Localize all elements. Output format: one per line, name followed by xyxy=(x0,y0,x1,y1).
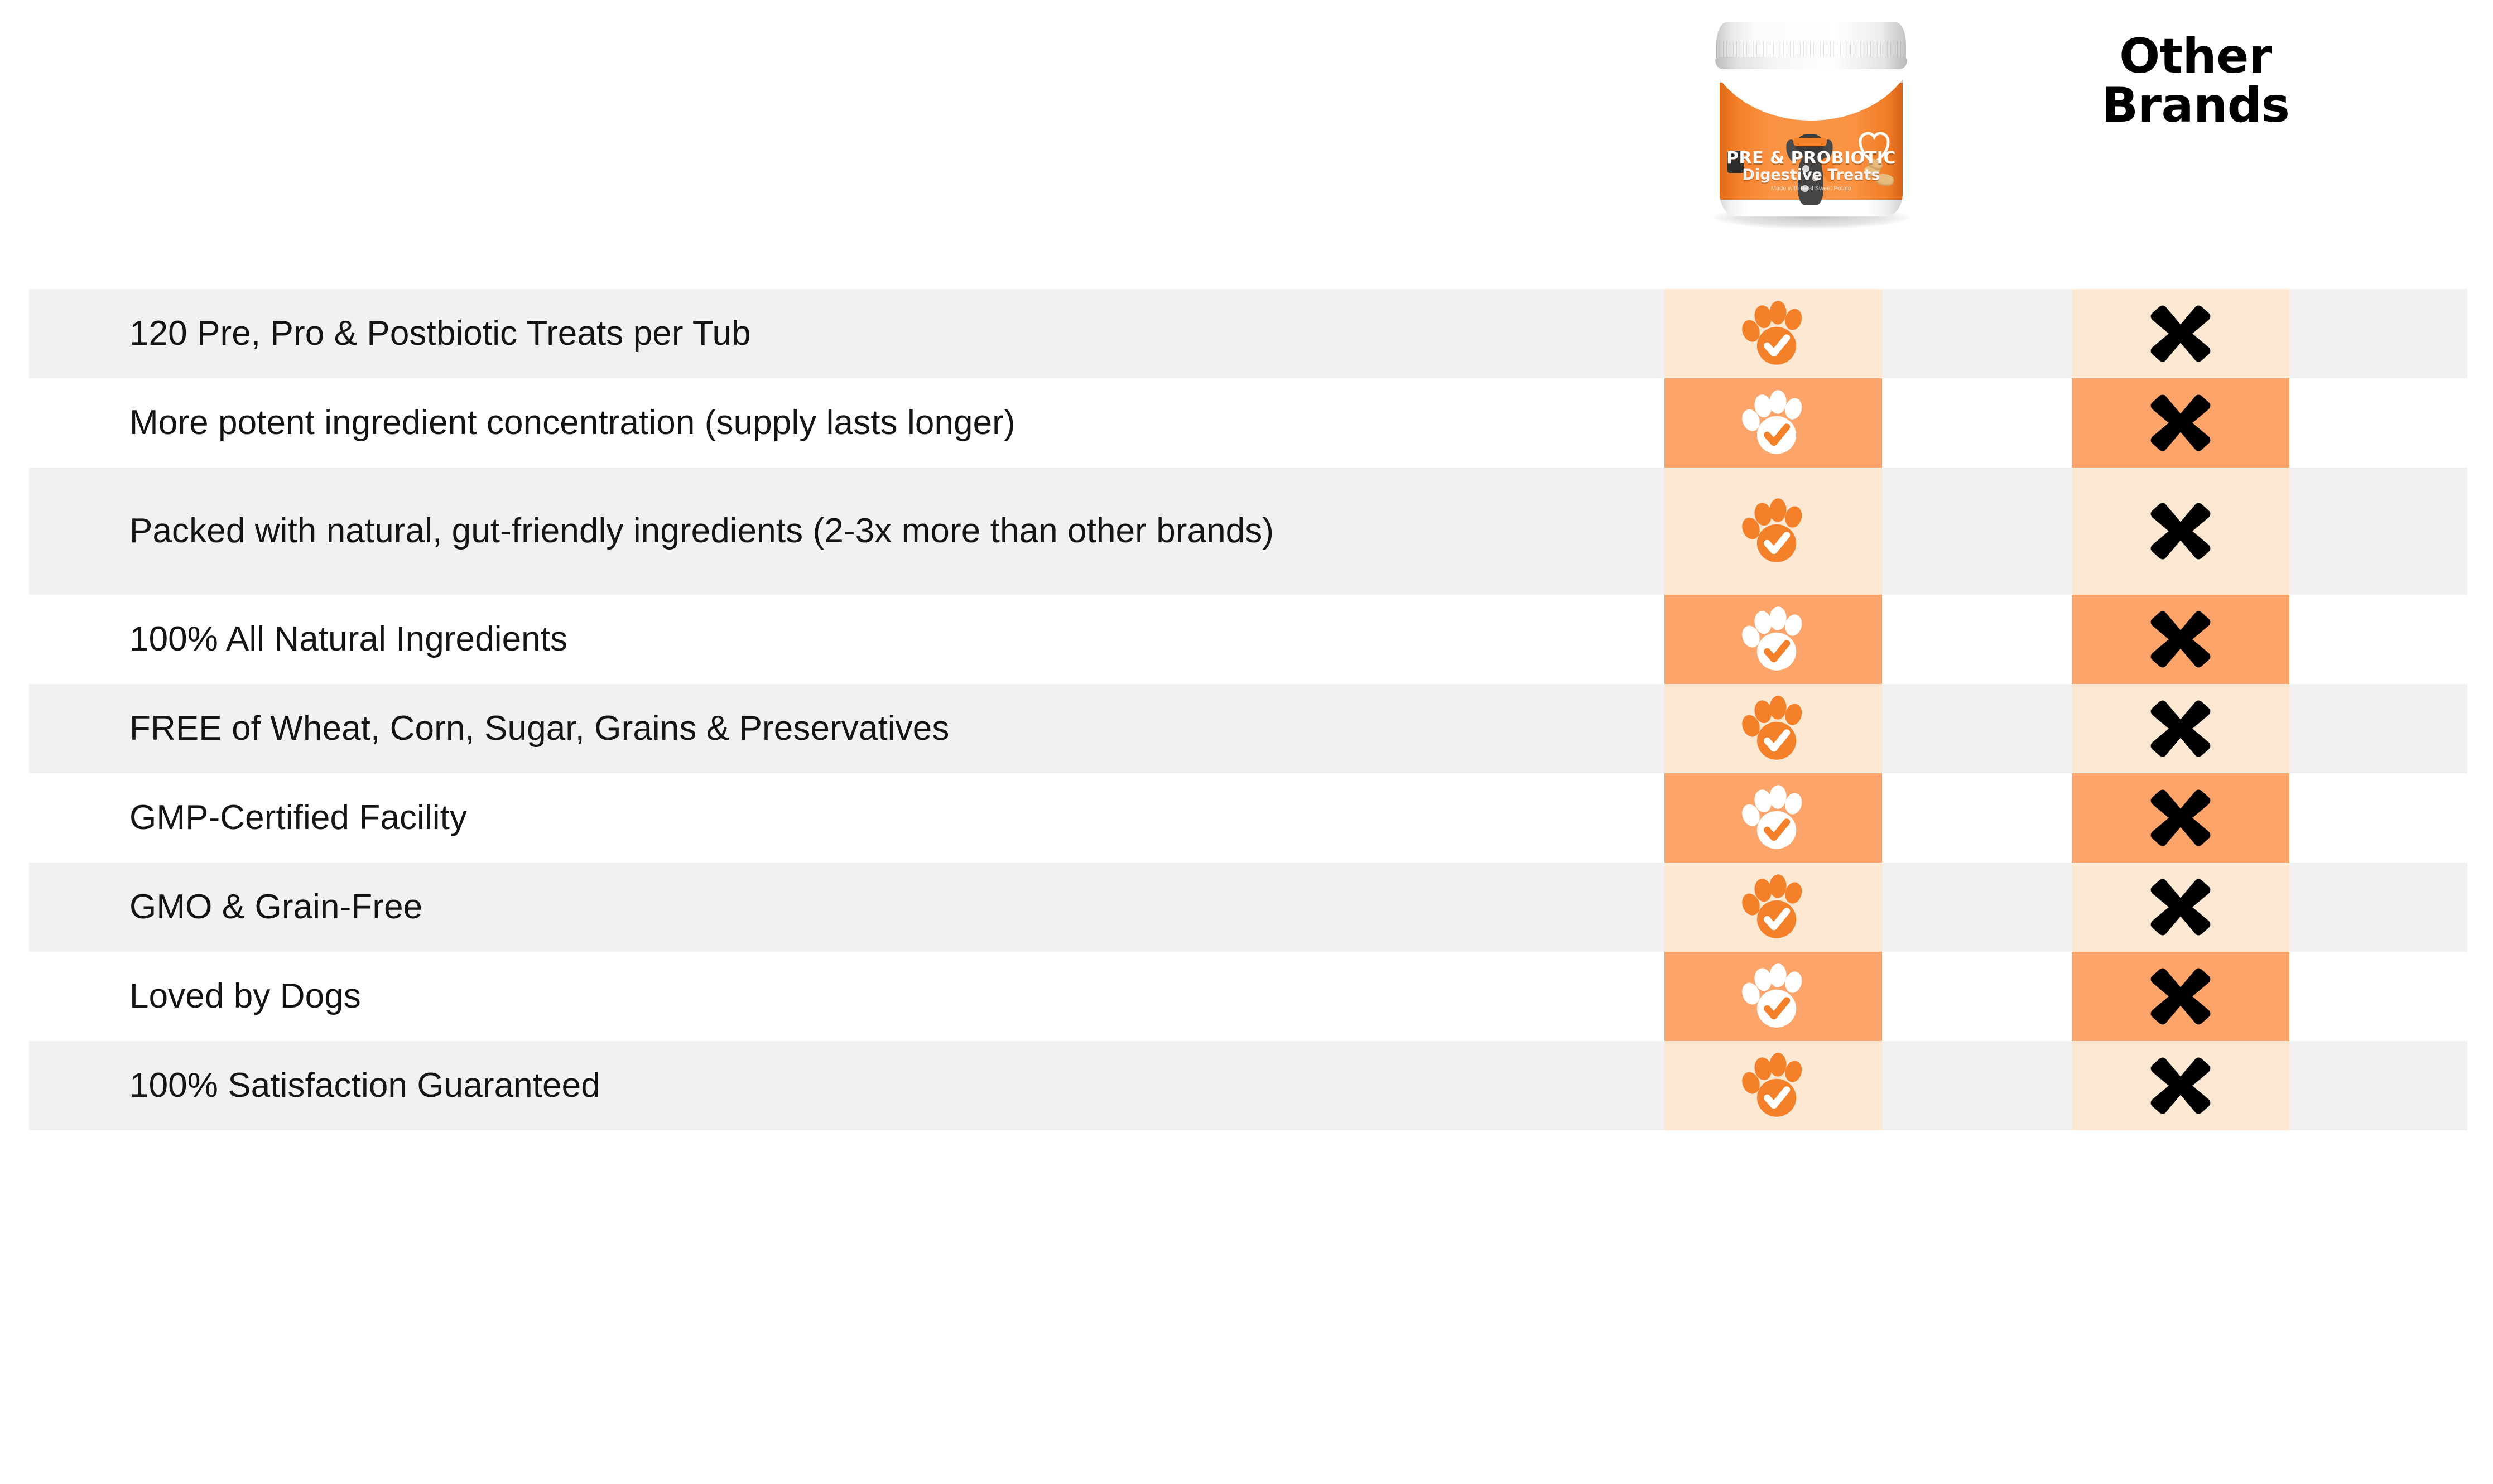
product-check-cell xyxy=(1664,595,1882,684)
x-cross-icon xyxy=(2148,606,2213,672)
tub-title-line1: PRE & PROBIOTIC xyxy=(1720,148,1903,168)
product-check-cell xyxy=(1664,468,1882,595)
feature-label-cell: Loved by Dogs xyxy=(29,952,1664,1041)
row-trailing-space xyxy=(2289,684,2467,773)
other-brands-line2: Brands xyxy=(2064,81,2327,131)
feature-label-text: GMP-Certified Facility xyxy=(129,794,467,841)
paw-check-icon xyxy=(1739,693,1807,764)
x-cross-icon-svg xyxy=(2148,696,2213,762)
table-row: GMP-Certified Facility xyxy=(29,773,2467,863)
other-brands-cross-cell xyxy=(2072,468,2289,595)
x-cross-icon-svg xyxy=(2148,785,2213,851)
column-gap xyxy=(1882,863,2072,952)
other-brands-cross-cell xyxy=(2072,289,2289,378)
table-row: GMO & Grain-Free xyxy=(29,863,2467,952)
x-cross-icon-svg xyxy=(2148,963,2213,1029)
paw-check-icon xyxy=(1739,872,1807,942)
feature-label-cell: GMO & Grain-Free xyxy=(29,863,1664,952)
other-brands-line1: Other xyxy=(2064,32,2327,81)
other-brands-cross-cell xyxy=(2072,952,2289,1041)
paw-check-icon xyxy=(1739,298,1807,369)
paw-check-icon-svg xyxy=(1739,388,1807,458)
product-check-cell xyxy=(1664,684,1882,773)
other-brands-cross-cell xyxy=(2072,684,2289,773)
paw-check-icon xyxy=(1739,961,1807,1032)
x-cross-icon-svg xyxy=(2148,301,2213,367)
feature-label-cell: More potent ingredient concentration (su… xyxy=(29,378,1664,468)
x-cross-icon xyxy=(2148,301,2213,367)
row-trailing-space xyxy=(2289,289,2467,378)
paw-check-icon-svg xyxy=(1739,496,1807,566)
paw-check-icon-svg xyxy=(1739,783,1807,853)
column-gap xyxy=(1882,378,2072,468)
paw-check-icon xyxy=(1739,783,1807,853)
product-check-cell xyxy=(1664,773,1882,863)
paw-check-icon-svg xyxy=(1739,872,1807,942)
column-gap xyxy=(1882,595,2072,684)
tub-label: PRE & PROBIOTIC Digestive Treats Made wi… xyxy=(1720,83,1903,200)
row-trailing-space xyxy=(2289,468,2467,595)
tub-title-line2: Digestive Treats xyxy=(1720,166,1903,184)
paw-check-icon-svg xyxy=(1739,1051,1807,1121)
product-check-cell xyxy=(1664,952,1882,1041)
table-row: FREE of Wheat, Corn, Sugar, Grains & Pre… xyxy=(29,684,2467,773)
column-gap xyxy=(1882,468,2072,595)
paw-check-icon xyxy=(1739,1051,1807,1121)
other-brands-cross-cell xyxy=(2072,1041,2289,1130)
row-trailing-space xyxy=(2289,773,2467,863)
table-row: Packed with natural, gut-friendly ingred… xyxy=(29,468,2467,595)
x-cross-icon-svg xyxy=(2148,498,2213,564)
column-gap xyxy=(1882,684,2072,773)
x-cross-icon xyxy=(2148,390,2213,456)
comparison-table: 120 Pre, Pro & Postbiotic Treats per Tub… xyxy=(29,289,2467,1130)
feature-label-text: Loved by Dogs xyxy=(129,973,361,1019)
comparison-header: PRE & PROBIOTIC Digestive Treats Made wi… xyxy=(0,0,2493,289)
product-check-cell xyxy=(1664,863,1882,952)
feature-label-cell: FREE of Wheat, Corn, Sugar, Grains & Pre… xyxy=(29,684,1664,773)
paw-check-icon-svg xyxy=(1739,961,1807,1032)
tub-lid-rim xyxy=(1715,57,1907,69)
feature-label-text: 100% Satisfaction Guaranteed xyxy=(129,1062,600,1109)
column-gap xyxy=(1882,773,2072,863)
other-brands-cross-cell xyxy=(2072,863,2289,952)
row-trailing-space xyxy=(2289,952,2467,1041)
feature-label-text: 100% All Natural Ingredients xyxy=(129,616,567,662)
feature-label-cell: GMP-Certified Facility xyxy=(29,773,1664,863)
x-cross-icon-svg xyxy=(2148,874,2213,940)
other-brands-cross-cell xyxy=(2072,378,2289,468)
column-gap xyxy=(1882,952,2072,1041)
x-cross-icon xyxy=(2148,696,2213,762)
feature-label-text: GMO & Grain-Free xyxy=(129,884,422,930)
x-cross-icon xyxy=(2148,874,2213,940)
table-row: 120 Pre, Pro & Postbiotic Treats per Tub xyxy=(29,289,2467,378)
feature-label-text: More potent ingredient concentration (su… xyxy=(129,399,1016,446)
product-tub-image: PRE & PROBIOTIC Digestive Treats Made wi… xyxy=(1701,10,1922,233)
feature-label-cell: 100% All Natural Ingredients xyxy=(29,595,1664,684)
feature-label-cell: Packed with natural, gut-friendly ingred… xyxy=(29,468,1664,595)
x-cross-icon-svg xyxy=(2148,1053,2213,1119)
table-row: 100% All Natural Ingredients xyxy=(29,595,2467,684)
tub-subtitle: Made with Real Sweet Potato xyxy=(1720,185,1903,192)
row-trailing-space xyxy=(2289,378,2467,468)
column-gap xyxy=(1882,289,2072,378)
product-check-cell xyxy=(1664,378,1882,468)
table-row: Loved by Dogs xyxy=(29,952,2467,1041)
x-cross-icon-svg xyxy=(2148,390,2213,456)
x-cross-icon xyxy=(2148,785,2213,851)
feature-label-text: 120 Pre, Pro & Postbiotic Treats per Tub xyxy=(129,310,751,356)
row-trailing-space xyxy=(2289,863,2467,952)
x-cross-icon-svg xyxy=(2148,606,2213,672)
feature-label-cell: 100% Satisfaction Guaranteed xyxy=(29,1041,1664,1130)
feature-label-cell: 120 Pre, Pro & Postbiotic Treats per Tub xyxy=(29,289,1664,378)
other-brands-cross-cell xyxy=(2072,773,2289,863)
paw-check-icon xyxy=(1739,604,1807,674)
feature-label-text: Packed with natural, gut-friendly ingred… xyxy=(129,508,1274,554)
x-cross-icon xyxy=(2148,963,2213,1029)
table-row: 100% Satisfaction Guaranteed xyxy=(29,1041,2467,1130)
paw-check-icon-svg xyxy=(1739,693,1807,764)
table-row: More potent ingredient concentration (su… xyxy=(29,378,2467,468)
paw-check-icon xyxy=(1739,388,1807,458)
product-check-cell xyxy=(1664,1041,1882,1130)
row-trailing-space xyxy=(2289,595,2467,684)
x-cross-icon xyxy=(2148,498,2213,564)
product-check-cell xyxy=(1664,289,1882,378)
tub-body: PRE & PROBIOTIC Digestive Treats Made wi… xyxy=(1720,54,1903,216)
x-cross-icon xyxy=(2148,1053,2213,1119)
other-brands-heading: Other Brands xyxy=(2064,32,2327,130)
paw-check-icon xyxy=(1739,496,1807,566)
column-gap xyxy=(1882,1041,2072,1130)
other-brands-cross-cell xyxy=(2072,595,2289,684)
feature-label-text: FREE of Wheat, Corn, Sugar, Grains & Pre… xyxy=(129,705,949,751)
paw-check-icon-svg xyxy=(1739,604,1807,674)
paw-check-icon-svg xyxy=(1739,298,1807,369)
row-trailing-space xyxy=(2289,1041,2467,1130)
